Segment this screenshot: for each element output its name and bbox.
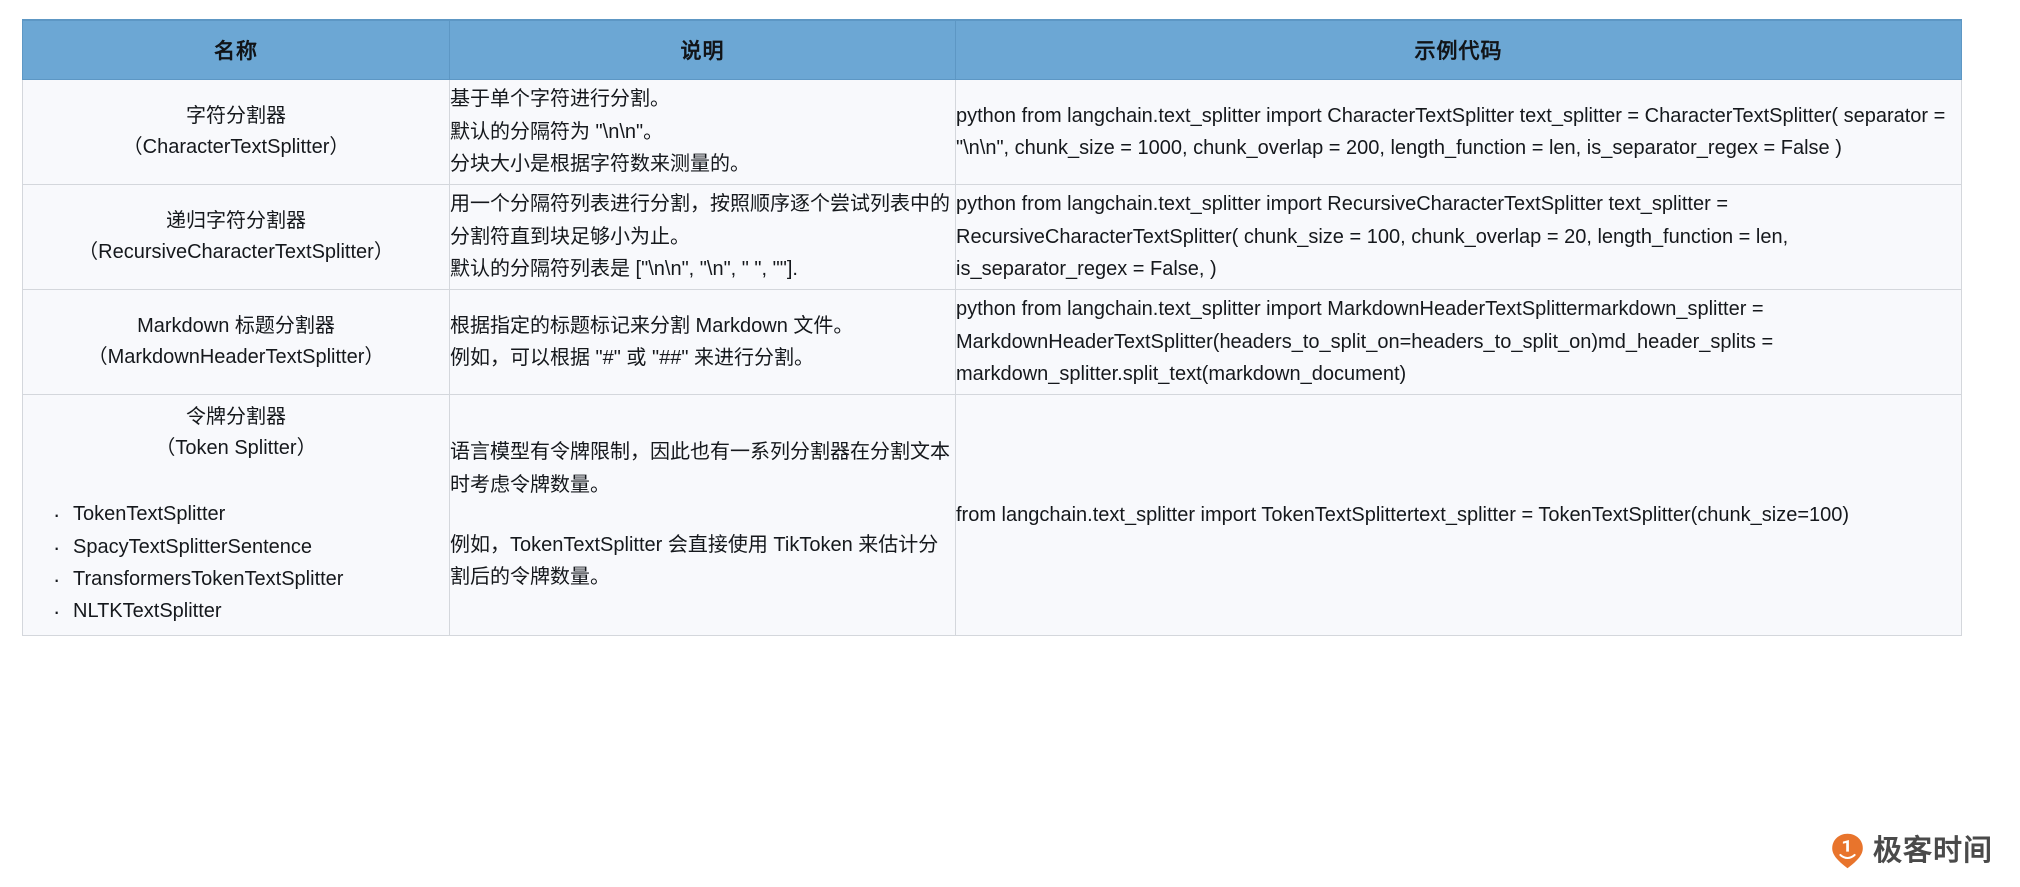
- splitter-name-cell: 令牌分割器 （Token Splitter） TokenTextSplitter…: [23, 395, 450, 636]
- splitter-name-cn: Markdown 标题分割器: [23, 311, 449, 342]
- description-line: 默认的分隔符为 "\n\n"。: [450, 116, 955, 148]
- splitter-name-cn: 字符分割器: [23, 101, 449, 132]
- column-header-name: 名称: [23, 20, 450, 80]
- splitter-code-cell: python from langchain.text_splitter impo…: [956, 185, 1962, 290]
- splitter-name-en: （MarkdownHeaderTextSplitter）: [23, 342, 449, 373]
- description-line: 语言模型有令牌限制，因此也有一系列分割器在分割文本时考虑令牌数量。: [450, 436, 955, 501]
- splitter-name-cell: 递归字符分割器 （RecursiveCharacterTextSplitter）: [23, 185, 450, 290]
- description-line: 根据指定的标题标记来分割 Markdown 文件。: [450, 310, 955, 342]
- geektime-logo-icon: [1831, 833, 1864, 869]
- splitter-name-en: （RecursiveCharacterTextSplitter）: [23, 237, 449, 268]
- splitter-table-container: 名称 说明 示例代码 字符分割器 （CharacterTextSplitter）…: [22, 19, 1961, 636]
- description-line: 例如，TokenTextSplitter 会直接使用 TikToken 来估计分…: [450, 529, 955, 594]
- splitter-description-cell: 用一个分隔符列表进行分割，按照顺序逐个尝试列表中的分割符直到块足够小为止。 默认…: [450, 185, 956, 290]
- column-header-description: 说明: [450, 20, 956, 80]
- splitter-name-en: （CharacterTextSplitter）: [23, 132, 449, 163]
- description-line: 基于单个字符进行分割。: [450, 83, 955, 115]
- splitter-description-cell: 语言模型有令牌限制，因此也有一系列分割器在分割文本时考虑令牌数量。 例如，Tok…: [450, 395, 956, 636]
- table-header-row: 名称 说明 示例代码: [23, 20, 1962, 80]
- splitter-comparison-table: 名称 说明 示例代码 字符分割器 （CharacterTextSplitter）…: [22, 19, 1962, 636]
- splitter-name-cn: 递归字符分割器: [23, 206, 449, 237]
- table-row: 递归字符分割器 （RecursiveCharacterTextSplitter）…: [23, 185, 1962, 290]
- column-header-example-code: 示例代码: [956, 20, 1962, 80]
- watermark: 极客时间: [1831, 833, 1993, 869]
- description-line: 默认的分隔符列表是 ["\n\n", "\n", " ", ""].: [450, 253, 955, 285]
- table-row: 令牌分割器 （Token Splitter） TokenTextSplitter…: [23, 395, 1962, 636]
- splitter-description-cell: 根据指定的标题标记来分割 Markdown 文件。 例如，可以根据 "#" 或 …: [450, 290, 956, 395]
- splitter-name-cell: 字符分割器 （CharacterTextSplitter）: [23, 80, 450, 185]
- splitter-code-cell: python from langchain.text_splitter impo…: [956, 80, 1962, 185]
- splitter-sub-list: TokenTextSplitter SpacyTextSplitterSente…: [23, 498, 449, 628]
- splitter-description-cell: 基于单个字符进行分割。 默认的分隔符为 "\n\n"。 分块大小是根据字符数来测…: [450, 80, 956, 185]
- description-line: 例如，可以根据 "#" 或 "##" 来进行分割。: [450, 342, 955, 374]
- splitter-code-cell: python from langchain.text_splitter impo…: [956, 290, 1962, 395]
- list-item: TokenTextSplitter: [53, 498, 449, 530]
- splitter-name-cell: Markdown 标题分割器 （MarkdownHeaderTextSplitt…: [23, 290, 450, 395]
- table-row: Markdown 标题分割器 （MarkdownHeaderTextSplitt…: [23, 290, 1962, 395]
- list-item: NLTKTextSplitter: [53, 595, 449, 627]
- page-root: 名称 说明 示例代码 字符分割器 （CharacterTextSplitter）…: [0, 0, 2020, 887]
- table-body: 字符分割器 （CharacterTextSplitter） 基于单个字符进行分割…: [23, 80, 1962, 636]
- list-item: TransformersTokenTextSplitter: [53, 563, 449, 595]
- list-item: SpacyTextSplitterSentence: [53, 531, 449, 563]
- description-line: 用一个分隔符列表进行分割，按照顺序逐个尝试列表中的分割符直到块足够小为止。: [450, 188, 955, 253]
- watermark-text: 极客时间: [1873, 837, 1993, 866]
- table-header: 名称 说明 示例代码: [23, 20, 1962, 80]
- table-row: 字符分割器 （CharacterTextSplitter） 基于单个字符进行分割…: [23, 80, 1962, 185]
- splitter-name-cn: 令牌分割器: [23, 402, 449, 433]
- description-line: 分块大小是根据字符数来测量的。: [450, 148, 955, 180]
- splitter-name-en: （Token Splitter）: [23, 433, 449, 464]
- splitter-code-cell: from langchain.text_splitter import Toke…: [956, 395, 1962, 636]
